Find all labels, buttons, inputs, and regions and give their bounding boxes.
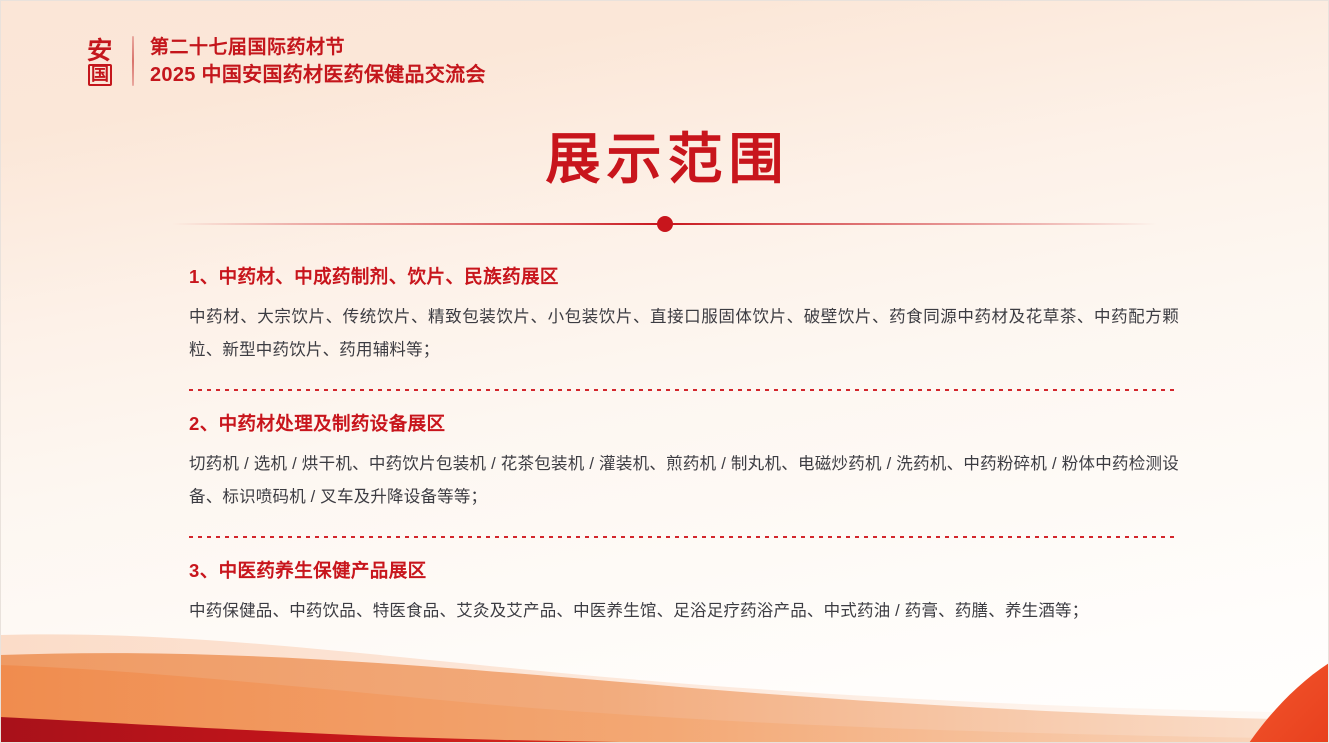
- event-name-line-1: 第二十七届国际药材节: [150, 34, 486, 61]
- title-divider-dot: [657, 216, 673, 232]
- section-1-heading: 1、中药材、中成药制剂、饮片、民族药展区: [189, 262, 1179, 292]
- section-1-body: 中药材、大宗饮片、传统饮片、精致包装饮片、小包装饮片、直接口服固体饮片、破壁饮片…: [189, 301, 1179, 367]
- section-1: 1、中药材、中成药制剂、饮片、民族药展区 中药材、大宗饮片、传统饮片、精致包装饮…: [189, 262, 1179, 367]
- header-vertical-divider: [132, 36, 134, 86]
- title-divider: [172, 213, 1157, 235]
- section-3: 3、中医药养生保健产品展区 中药保健品、中药饮品、特医食品、艾灸及艾产品、中医养…: [189, 556, 1179, 628]
- exhibit-scope-content: 1、中药材、中成药制剂、饮片、民族药展区 中药材、大宗饮片、传统饮片、精致包装饮…: [189, 262, 1179, 628]
- section-2-body: 切药机 / 选机 / 烘干机、中药饮片包装机 / 花茶包装机 / 灌装机、煎药机…: [189, 448, 1179, 514]
- page-title-block: 展示范围: [0, 124, 1329, 194]
- bottom-right-corner-decoration: [999, 633, 1329, 743]
- section-3-body: 中药保健品、中药饮品、特医食品、艾灸及艾产品、中医养生馆、足浴足疗药浴产品、中式…: [189, 595, 1179, 628]
- event-header: 安 国 第二十七届国际药材节 2025 中国安国药材医药保健品交流会: [80, 32, 486, 90]
- section-3-heading: 3、中医药养生保健产品展区: [189, 556, 1179, 586]
- logo-char-top: 安: [86, 37, 113, 64]
- section-divider-1: [189, 389, 1179, 391]
- page-title: 展示范围: [0, 124, 1329, 194]
- section-divider-2: [189, 536, 1179, 538]
- section-2: 2、中药材处理及制药设备展区 切药机 / 选机 / 烘干机、中药饮片包装机 / …: [189, 409, 1179, 514]
- event-name-line-2: 2025 中国安国药材医药保健品交流会: [150, 61, 486, 89]
- logo-char-bottom: 国: [88, 64, 112, 86]
- slide-canvas: 安 国 第二十七届国际药材节 2025 中国安国药材医药保健品交流会 展示范围 …: [0, 0, 1329, 743]
- anguo-logo-icon: 安 国: [80, 32, 120, 90]
- section-2-heading: 2、中药材处理及制药设备展区: [189, 409, 1179, 439]
- header-title-group: 第二十七届国际药材节 2025 中国安国药材医药保健品交流会: [150, 34, 486, 89]
